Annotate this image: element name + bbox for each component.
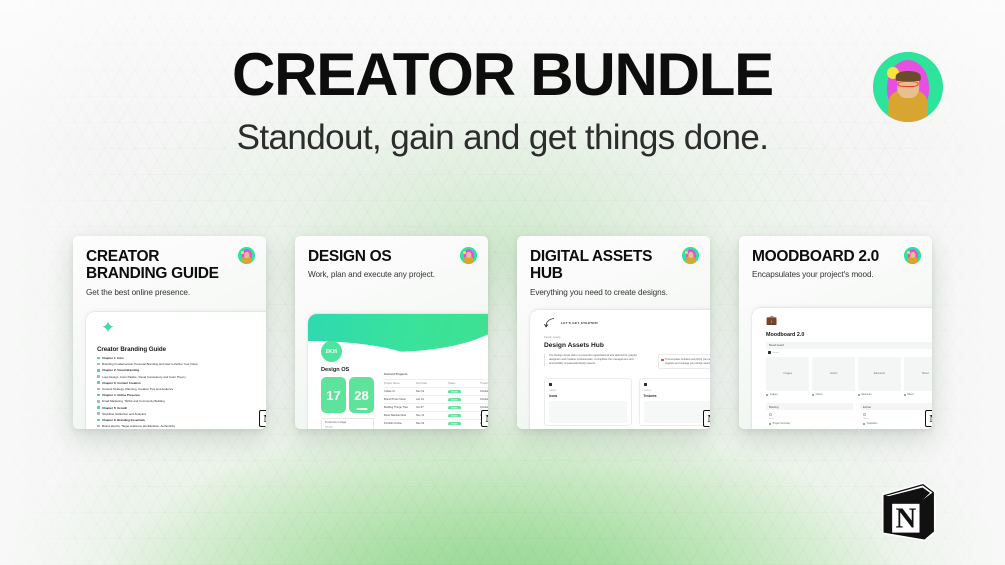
- mock-section-footer-label: Project Summary: [773, 423, 791, 425]
- mock-asset-column[interactable]: GalleryIcons: [544, 378, 632, 426]
- briefcase-icon: 💼: [766, 316, 777, 325]
- mock-column-label: Icons: [549, 394, 627, 398]
- list-bullet-icon: [97, 357, 100, 360]
- mock-section-footer-label: Inspiration: [867, 423, 878, 425]
- mock-get-started-label: LET'S GET STARTED!: [561, 321, 599, 325]
- page-subtitle: Standout, gain and get things done.: [0, 119, 1005, 158]
- mock-grid-cell[interactable]: Elements: [858, 357, 901, 391]
- mock-toc-row: Chapter 4: Online Presence: [97, 393, 266, 397]
- card-subtitle: Everything you need to create designs.: [530, 288, 697, 297]
- mock-number-card: 28: [349, 377, 374, 413]
- notion-logo-icon: N: [703, 410, 710, 427]
- mock-callout-text: This template includes everything you ne…: [665, 358, 710, 365]
- mock-toc-label: Chapter 6: Branding Essentials: [102, 418, 145, 422]
- mock-logo-badge: DOS: [321, 341, 342, 362]
- mock-callout: This template includes everything you ne…: [658, 354, 710, 369]
- card-avatar-icon: [904, 247, 921, 264]
- mock-square-icon: [768, 351, 771, 354]
- notion-logo-icon: N: [259, 410, 266, 427]
- mock-projects-table: Current Projects Project NameDue DateSta…: [384, 372, 488, 427]
- mock-section-mini: Board: [773, 352, 779, 354]
- mock-table-cell: Active: [448, 406, 472, 409]
- mock-heading: Design OS: [321, 367, 349, 373]
- mock-toc-label: Chapter 2: Visual Branding: [102, 368, 139, 372]
- mock-table-header: Due Date: [416, 382, 440, 385]
- mock-toc-label: Brand Identity, Target Audience Identifi…: [102, 424, 175, 428]
- mock-table-caption: Current Projects: [384, 372, 488, 376]
- avatar-glasses-icon: [898, 81, 919, 87]
- notion-logo-letter: N: [895, 503, 916, 535]
- list-number-icon: [97, 425, 100, 428]
- mock-number-card: 17: [321, 377, 346, 413]
- mock-toc-row: Chapter 1: Intro: [97, 356, 266, 360]
- card-preview-mock: LET'S GET STARTED! Design Assets Design …: [530, 310, 710, 429]
- table-row[interactable]: Book Website DealNov 11ActiveOctober 14-…: [384, 411, 488, 419]
- mock-toc-label: Chapter 5: Growth: [102, 406, 127, 410]
- mock-toc-label: Email Marketing, TikTok and Community Bu…: [102, 399, 165, 403]
- mock-heading: Moodboard 2.0: [766, 332, 804, 338]
- mock-note-line1: To-Do list on Page: [325, 421, 370, 424]
- mock-table-header: Status: [448, 382, 472, 385]
- mock-dot-icon: [766, 394, 768, 396]
- mock-table-header-row: Project NameDue DateStatusTimeline: [384, 379, 488, 387]
- product-card-moodboard[interactable]: MOODBOARD 2.0 Encapsulates your project'…: [739, 236, 932, 429]
- mock-note-line2: TO DO: [325, 426, 370, 429]
- mock-grid-footer: Colors: [812, 393, 855, 396]
- status-badge: Active: [448, 414, 461, 417]
- mock-toc-row: Chapter 3: Content Creation: [97, 381, 266, 385]
- mock-toc-row: Email Marketing, TikTok and Community Bu…: [97, 399, 266, 403]
- mock-column-label: Textures: [644, 394, 711, 398]
- mock-toc-row: Content Strategy, Planning, Creation Tip…: [97, 387, 266, 391]
- notion-logo-icon: N: [872, 475, 944, 547]
- mock-table-header: Timeline: [480, 382, 488, 385]
- mock-heading: Creator Branding Guide: [97, 346, 166, 353]
- mock-table-cell: Brand Photo Shoot: [384, 398, 408, 401]
- mock-toc-label: Chapter 1: Intro: [102, 356, 124, 360]
- mock-section-title: Extras: [860, 403, 932, 410]
- mock-toc-label: Logo Design, Color Palette, Visual Consi…: [102, 375, 186, 379]
- card-preview-mock: ✦ Creator Branding Guide Chapter 1: Intr…: [86, 312, 266, 429]
- mock-section-title: Briefing: [766, 403, 853, 410]
- mock-square-icon: [549, 383, 552, 386]
- list-bullet-icon: [97, 406, 100, 409]
- card-title: DESIGN OS: [308, 248, 475, 265]
- mock-grid-cell[interactable]: Mood: [904, 357, 932, 391]
- mock-circle-icon: [863, 413, 866, 416]
- mock-grid: ImagesColorsElementsMood: [766, 357, 932, 391]
- mock-toc-label: Content Strategy, Planning, Creation Tip…: [102, 387, 173, 391]
- table-row[interactable]: Building Things That I ScheduledOct 07Ac…: [384, 403, 488, 411]
- page-title: CREATOR BUNDLE: [0, 44, 1005, 105]
- mock-table-cell: Dec 02: [416, 422, 440, 425]
- card-title: DIGITAL ASSETS HUB: [530, 248, 697, 283]
- list-bullet-icon: [97, 381, 100, 384]
- mock-square-icon: [644, 383, 647, 386]
- mock-section: ExtrasNotesInspiration: [860, 403, 932, 425]
- mock-section: BriefingNotesProject Summary: [766, 403, 853, 425]
- mock-grid-footer-label: Elements: [861, 393, 871, 396]
- mock-grid-footer: Mood: [904, 393, 932, 396]
- mock-column-mini: Gallery: [644, 389, 711, 392]
- mock-breadcrumb: Design Assets: [544, 336, 560, 339]
- notion-logo-icon: N: [481, 410, 488, 427]
- list-bullet-icon: [97, 419, 100, 422]
- product-card-creator-branding-guide[interactable]: CREATOR BRANDING GUIDE Get the best onli…: [73, 236, 266, 429]
- mock-section-footer: Project Summary: [769, 423, 853, 425]
- card-title: MOODBOARD 2.0: [752, 248, 919, 265]
- mock-toc-row: Chapter 5: Growth: [97, 406, 266, 410]
- mock-toc-row: Chapter 6: Branding Essentials: [97, 418, 266, 422]
- mock-circle-icon: [769, 413, 772, 416]
- mock-dot-icon: [863, 423, 865, 425]
- status-badge: Active: [448, 398, 461, 401]
- mock-column-preview: [644, 401, 711, 423]
- mock-grid-footer-label: Mood: [907, 393, 913, 396]
- list-number-icon: [97, 412, 100, 415]
- list-number-icon: [97, 388, 100, 391]
- mock-toc-row: Branding Fundamentals, Personal Branding…: [97, 362, 266, 366]
- mock-toc-row: Logo Design, Color Palette, Visual Consi…: [97, 375, 266, 379]
- mock-moodboard-section: Mood board Board ImagesColorsElementsMoo…: [766, 342, 932, 425]
- mock-table-cell: Oct 07: [416, 406, 440, 409]
- table-row[interactable]: Portfolio OnlineDec 02ActiveOctober 18-3…: [384, 419, 488, 427]
- mock-table-cell: Active: [448, 390, 472, 393]
- header: CREATOR BUNDLE Standout, gain and get th…: [0, 44, 1005, 158]
- list-number-icon: [97, 375, 100, 378]
- table-row[interactable]: Brand Photo ShootJan 04ActiveOctober 2-1…: [384, 395, 488, 403]
- card-preview-mock: DOS Design OS 1728 To-Do list on Page TO…: [308, 314, 488, 429]
- card-subtitle: Work, plan and execute any project.: [308, 270, 475, 279]
- mock-number-cards: 1728: [321, 377, 374, 413]
- poster-canvas: CREATOR BUNDLE Standout, gain and get th…: [0, 0, 1005, 565]
- card-avatar-icon: [682, 247, 699, 264]
- mock-grid-footer-label: Images: [770, 393, 778, 396]
- status-badge: Active: [448, 406, 461, 409]
- mock-heading: Design Assets Hub: [544, 342, 604, 349]
- mock-toc-label: Workflow, Reflection and Analytics: [102, 412, 146, 416]
- list-number-icon: [97, 363, 100, 366]
- mock-column-preview: [549, 401, 627, 423]
- mock-asset-columns: GalleryIconsGalleryTextures: [544, 378, 710, 426]
- card-title: CREATOR BRANDING GUIDE: [86, 248, 253, 283]
- product-card-row: CREATOR BRANDING GUIDE Get the best onli…: [0, 236, 1005, 429]
- mock-grid-footer: Images: [766, 393, 809, 396]
- product-card-digital-assets-hub[interactable]: DIGITAL ASSETS HUB Everything you need t…: [517, 236, 710, 429]
- mock-toc-row: Brand Identity, Target Audience Identifi…: [97, 424, 266, 428]
- mock-section-body: NotesProject Summary: [766, 413, 853, 425]
- card-avatar-icon: [238, 247, 255, 264]
- mock-table-cell: Active: [448, 422, 472, 425]
- mock-paragraph: The Design Asset Hub is a powerful organ…: [544, 354, 648, 366]
- status-badge: Active: [448, 390, 461, 393]
- card-subtitle: Encapsulates your project's mood.: [752, 270, 919, 279]
- avatar-hair: [896, 71, 921, 82]
- mock-table-cell: October 12-24: [480, 406, 488, 409]
- mock-table-cell: Dec 01: [416, 390, 440, 393]
- mock-table-cell: October 1-14: [480, 390, 488, 393]
- creator-avatar-icon: [873, 52, 943, 122]
- mock-table-cell: Portfolio Online: [384, 422, 408, 425]
- curved-arrow-icon: [544, 317, 556, 329]
- card-subtitle: Get the best online presence.: [86, 288, 253, 297]
- mock-toc-label: Chapter 3: Content Creation: [102, 381, 141, 385]
- status-badge: Active: [448, 422, 461, 425]
- list-bullet-icon: [97, 394, 100, 397]
- mock-table-cell: Nov 11: [416, 414, 440, 417]
- list-number-icon: [97, 400, 100, 403]
- product-card-design-os[interactable]: DESIGN OS Work, plan and execute any pro…: [295, 236, 488, 429]
- mock-table-header: Project Name: [384, 382, 408, 385]
- mock-section-label: Mood board: [766, 342, 932, 349]
- mock-note-card: To-Do list on Page TO DO: [321, 418, 374, 429]
- list-bullet-icon: [97, 369, 100, 372]
- mock-get-started: LET'S GET STARTED!: [544, 317, 599, 329]
- mock-dot-icon: [858, 394, 860, 396]
- mock-toc-list: Chapter 1: IntroBranding Fundamentals, P…: [97, 356, 266, 429]
- mock-table-cell: Active: [448, 414, 472, 417]
- mock-section-mini: Notes: [863, 418, 932, 420]
- sparkle-icon: ✦: [100, 320, 116, 336]
- mock-table-cell: Book Website Deal: [384, 414, 408, 417]
- mock-grid-footer: Elements: [858, 393, 901, 396]
- mock-section-mini-row: Board: [768, 351, 932, 354]
- card-avatar-icon: [460, 247, 477, 264]
- mock-column-mini: Gallery: [549, 389, 627, 392]
- mock-section-mini: Notes: [769, 418, 853, 420]
- card-preview-mock: 💼 Moodboard 2.0 Mood board Board ImagesC…: [752, 308, 932, 429]
- mock-paragraph-text: The Design Asset Hub is a powerful organ…: [549, 354, 648, 366]
- mock-dot-icon: [769, 423, 771, 425]
- table-row[interactable]: Coffee UIDec 01ActiveOctober 1-14: [384, 387, 488, 395]
- mock-table-cell: Coffee UI: [384, 390, 408, 393]
- mock-toc-row: Workflow, Reflection and Analytics: [97, 412, 266, 416]
- mock-table-cell: October 2-16: [480, 398, 488, 401]
- mock-toc-row: Chapter 2: Visual Branding: [97, 368, 266, 372]
- mock-table-cell: Active: [448, 398, 472, 401]
- mock-table-cell: Jan 04: [416, 398, 440, 401]
- mock-section-body: NotesInspiration: [860, 413, 932, 425]
- mock-toc-label: Chapter 4: Online Presence: [102, 393, 140, 397]
- mock-grid-footers: ImagesColorsElementsMood: [766, 393, 932, 396]
- notion-logo-icon: N: [925, 410, 932, 427]
- mock-toc-label: Branding Fundamentals, Personal Branding…: [102, 362, 198, 366]
- mock-table-cell: Building Things That I Scheduled: [384, 406, 408, 409]
- mock-asset-column[interactable]: GalleryTextures: [639, 378, 711, 426]
- mock-bottom-sections: BriefingNotesProject SummaryExtrasNotesI…: [766, 403, 932, 425]
- mock-dot-icon: [812, 394, 814, 396]
- mock-dot-icon: [904, 394, 906, 396]
- mock-grid-cell[interactable]: Images: [766, 357, 809, 391]
- mock-section-footer: Inspiration: [863, 423, 932, 425]
- mock-grid-footer-label: Colors: [816, 393, 823, 396]
- mock-grid-cell[interactable]: Colors: [812, 357, 855, 391]
